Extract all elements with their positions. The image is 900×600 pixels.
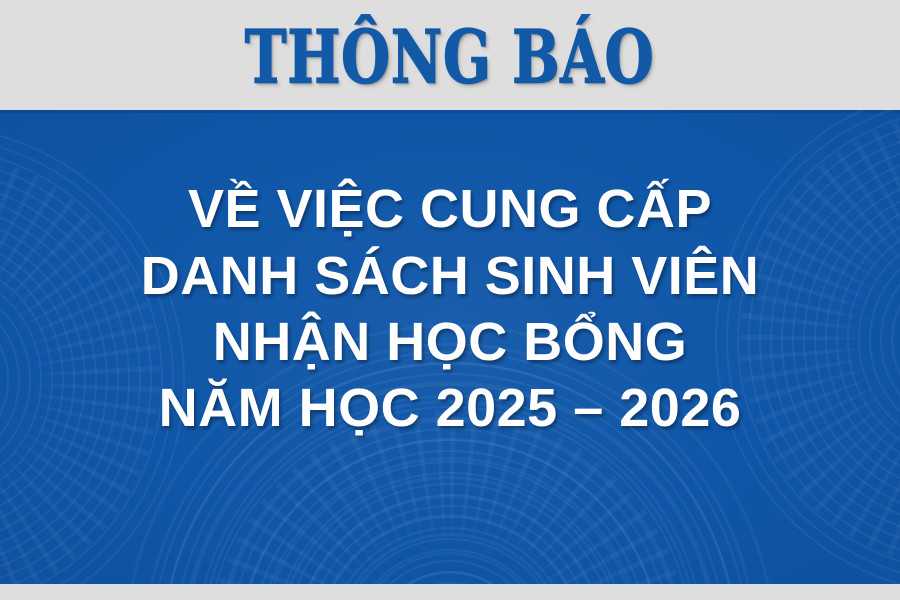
notice-poster: THÔNG BÁO VỀ VIỆC CUNG CẤP DANH SÁCH SIN…: [0, 0, 900, 600]
announcement-line-4: NĂM HỌC 2025 – 2026: [159, 375, 742, 441]
announcement-text-block: VỀ VIỆC CUNG CẤP DANH SÁCH SINH VIÊN NHẬ…: [0, 110, 900, 584]
page-title: THÔNG BÁO: [245, 20, 655, 93]
announcement-line-1: VỀ VIỆC CUNG CẤP: [188, 176, 712, 242]
announcement-banner: VỀ VIỆC CUNG CẤP DANH SÁCH SINH VIÊN NHẬ…: [0, 110, 900, 584]
announcement-line-2: DANH SÁCH SINH VIÊN: [141, 243, 760, 309]
bottom-strip: [0, 584, 900, 600]
header-bar: THÔNG BÁO: [0, 0, 900, 110]
announcement-line-3: NHẬN HỌC BỔNG: [213, 309, 688, 375]
